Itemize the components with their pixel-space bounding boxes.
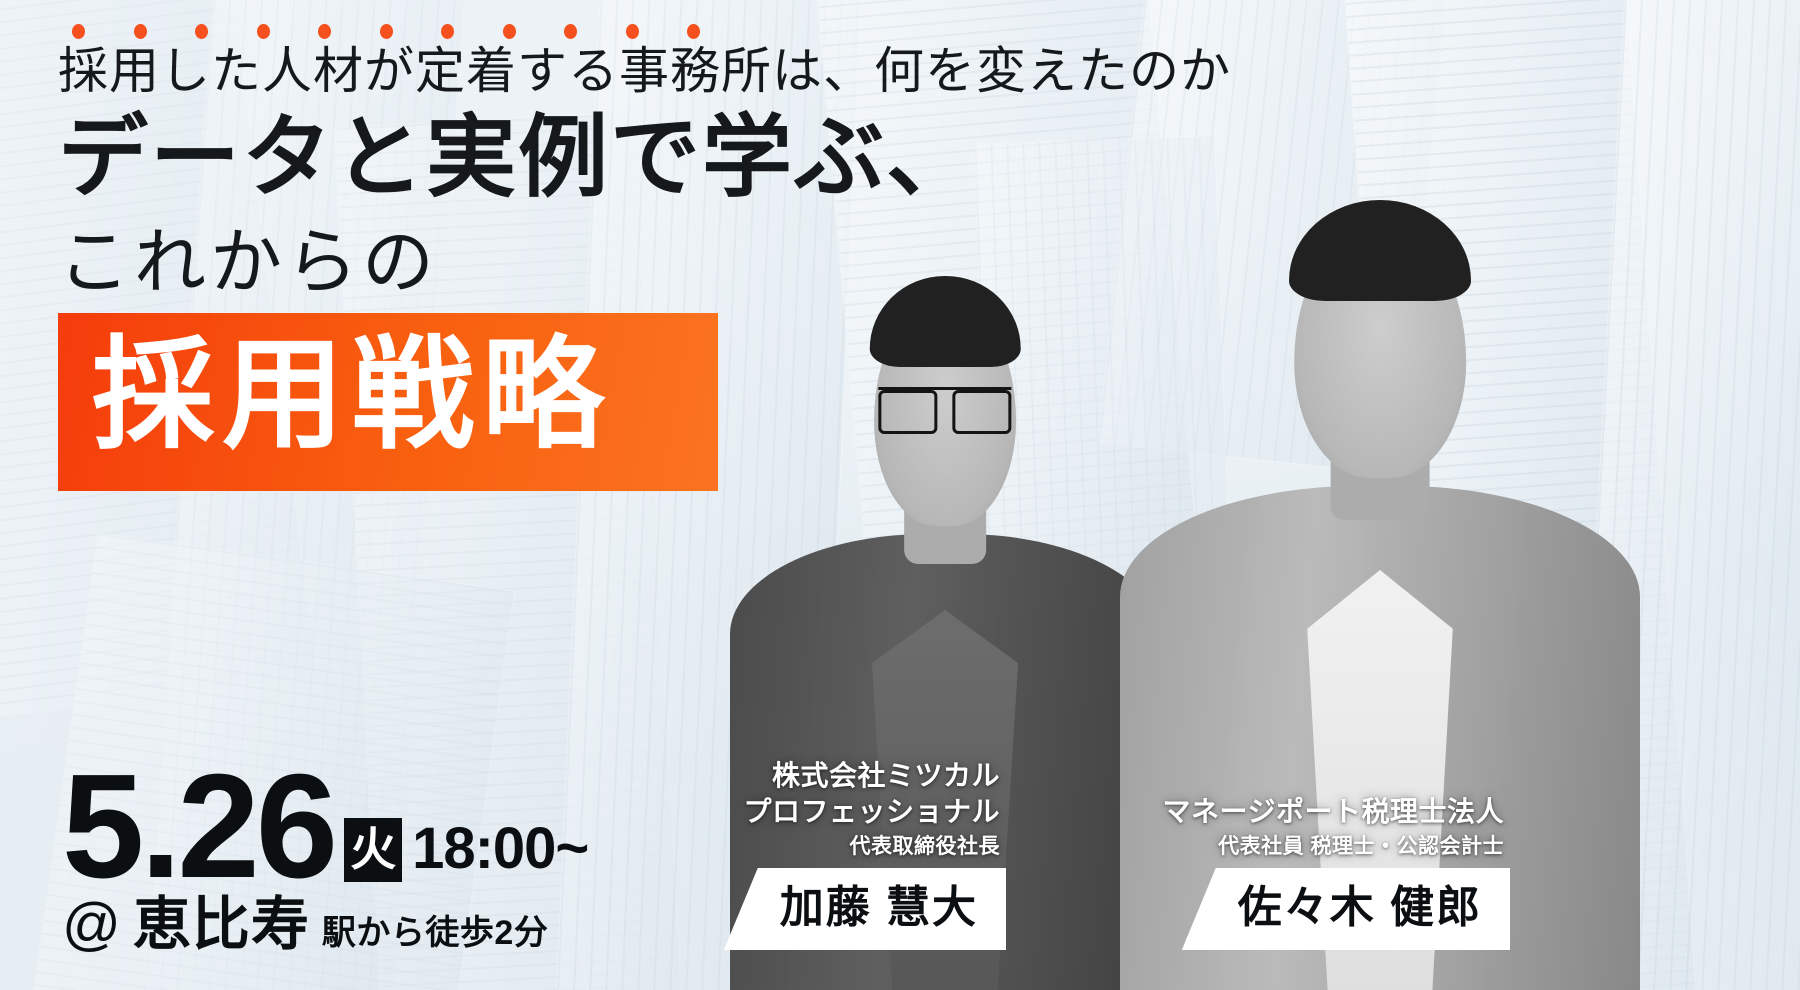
emphasis-dot bbox=[72, 24, 85, 39]
event-date-row: 5.26 火 18:00~ bbox=[62, 763, 588, 890]
emphasis-dot bbox=[626, 24, 639, 39]
venue-name: 恵比寿 bbox=[133, 896, 310, 954]
emphasis-dot bbox=[134, 24, 147, 39]
speaker-1-nameplate: 加藤 慧大 bbox=[724, 868, 1006, 950]
venue-walk-note: 駅から徒歩2分 bbox=[322, 916, 548, 950]
emphasis-dot bbox=[195, 24, 208, 39]
speaker-1-org-line-2: プロフェッショナル bbox=[743, 794, 1000, 830]
event-date: 5.26 bbox=[62, 763, 334, 890]
emphasis-dots bbox=[58, 24, 1238, 38]
headline-main-line-1: データと実例で学ぶ、 bbox=[58, 109, 1238, 210]
headline-block: 採用した人材が定着する事務所は、何を変えたのか データと実例で学ぶ、 これからの… bbox=[58, 24, 1238, 491]
event-details-block: 5.26 火 18:00~ @ 恵比寿 駅から徒歩2分 bbox=[62, 763, 588, 954]
weekday-badge: 火 bbox=[344, 818, 402, 882]
headline-main-line-2: これからの bbox=[58, 224, 1238, 303]
emphasis-dot bbox=[441, 24, 454, 39]
speaker-2-role: 代表社員 税理士・公認会計士 bbox=[1163, 831, 1504, 863]
speaker-1-caption: 株式会社ミツカル プロフェッショナル 代表取締役社長 bbox=[743, 758, 1000, 862]
seminar-banner: 採用した人材が定着する事務所は、何を変えたのか データと実例で学ぶ、 これからの… bbox=[0, 0, 1800, 990]
emphasis-dot bbox=[503, 24, 516, 39]
keyword-text: 採用戦略 bbox=[92, 319, 684, 475]
speaker-2-nameplate: 佐々木 健郎 bbox=[1182, 868, 1510, 950]
keyword-highlight-box: 採用戦略 bbox=[58, 313, 718, 491]
speaker-1-org-line-1: 株式会社ミツカル bbox=[743, 758, 1000, 794]
emphasis-dot bbox=[380, 24, 393, 39]
emphasis-dot bbox=[318, 24, 331, 39]
emphasis-dot bbox=[564, 24, 577, 39]
speaker-2-caption: マネージポート税理士法人 代表社員 税理士・公認会計士 bbox=[1163, 794, 1504, 862]
emphasis-dot bbox=[687, 24, 700, 39]
speaker-1-role: 代表取締役社長 bbox=[743, 831, 1000, 863]
headline-subtitle: 採用した人材が定着する事務所は、何を変えたのか bbox=[58, 42, 1238, 101]
speaker-2-org-line-1: マネージポート税理士法人 bbox=[1163, 794, 1504, 830]
emphasis-dot bbox=[257, 24, 270, 39]
venue-at-symbol: @ bbox=[62, 896, 121, 954]
event-time: 18:00~ bbox=[412, 820, 588, 878]
event-venue-row: @ 恵比寿 駅から徒歩2分 bbox=[62, 896, 588, 954]
